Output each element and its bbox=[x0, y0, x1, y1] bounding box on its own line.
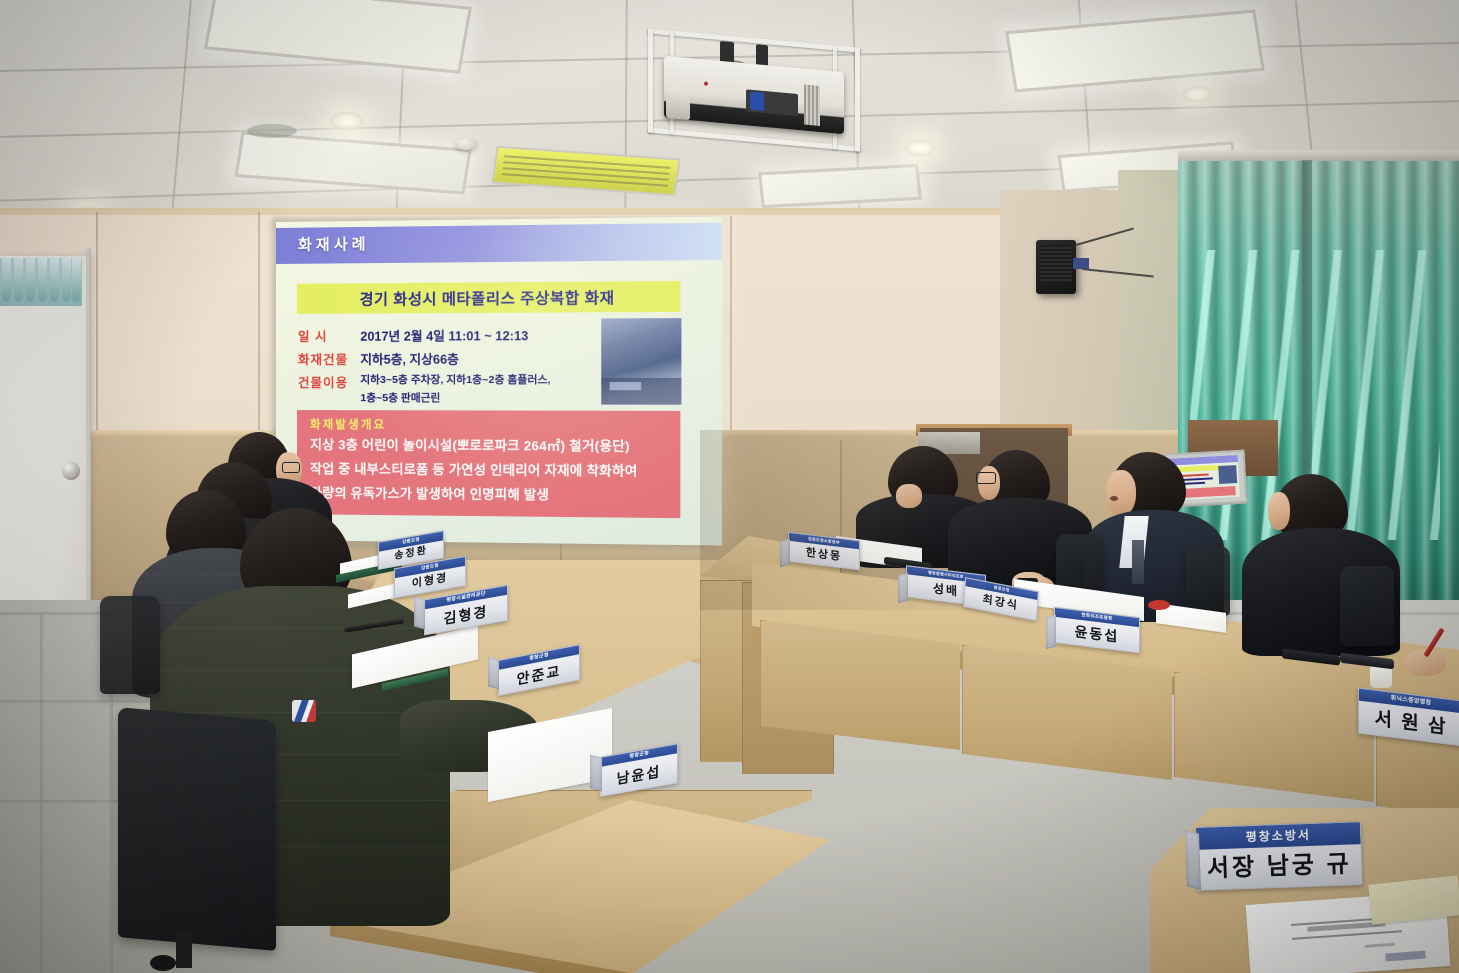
slide-summary-line: 지상 3층 어린이 놀이시설(뽀로로파크 264㎡) 철거(용단) bbox=[310, 434, 630, 455]
nameplate-side bbox=[898, 573, 908, 604]
meeting-room-photo: 화재사례 경기 화성시 메타폴리스 주상복합 화재 일 시 2017년 2월 4… bbox=[0, 0, 1459, 973]
slide-info-row: 1층~5층 판매근린 bbox=[298, 390, 440, 405]
presentation-slide: 화재사례 경기 화성시 메타폴리스 주상복합 화재 일 시 2017년 2월 4… bbox=[276, 216, 722, 545]
wall-seam bbox=[96, 212, 98, 434]
projection-screen: 화재사례 경기 화성시 메타폴리스 주상복합 화재 일 시 2017년 2월 4… bbox=[276, 216, 722, 545]
office-chair[interactable] bbox=[118, 707, 276, 951]
ceiling-downlight bbox=[905, 140, 935, 156]
ceiling-projector bbox=[664, 56, 844, 134]
wall-speaker bbox=[1036, 240, 1076, 294]
nameplate-side bbox=[1185, 830, 1201, 890]
presenter-mouth bbox=[1110, 496, 1118, 501]
slide-info-label: 화재건물 bbox=[298, 349, 360, 368]
smoke-detector bbox=[455, 138, 477, 150]
chair-post bbox=[176, 930, 192, 968]
slide-summary-title: 화재발생개요 bbox=[310, 416, 386, 432]
nameplate-name: 서장 남궁 규 bbox=[1197, 844, 1362, 890]
slide-summary-line: 작업 중 내부스티로폼 등 가연성 인테리어 자재에 착화하여 bbox=[310, 458, 638, 479]
projector-lens bbox=[666, 88, 690, 120]
glasses-icon bbox=[282, 462, 300, 473]
jacket-logo-patch bbox=[292, 700, 316, 722]
curtain-rail bbox=[1178, 150, 1459, 161]
ceiling-downlight bbox=[330, 112, 364, 130]
slide-title-text: 경기 화성시 메타폴리스 주상복합 화재 bbox=[360, 286, 615, 309]
slide-info-value: 1층~5층 판매근린 bbox=[360, 390, 440, 405]
office-chair[interactable] bbox=[1340, 566, 1394, 646]
wall-seam bbox=[730, 216, 732, 438]
slide-info-label: 건물이용 bbox=[298, 372, 360, 391]
door-knob[interactable] bbox=[62, 462, 80, 480]
presenter-face bbox=[1106, 470, 1136, 516]
slide-info-row: 건물이용 지하3~5층 주차장, 지하1층~2층 홈플러스, bbox=[298, 372, 551, 391]
projector-mount-cage bbox=[648, 28, 860, 151]
slide-title-box: 경기 화성시 메타폴리스 주상복합 화재 bbox=[297, 281, 680, 314]
chair-caster bbox=[150, 955, 176, 971]
nameplate-side bbox=[414, 597, 425, 630]
door-window-curtain bbox=[0, 258, 82, 306]
nameplate-side bbox=[1046, 615, 1056, 650]
nameplate-side bbox=[488, 657, 499, 690]
slide-info-row: 화재건물 지하5층, 지상66층 bbox=[298, 349, 459, 368]
nameplate-side bbox=[590, 755, 602, 792]
slide-info-value: 2017년 2월 4일 11:01 ~ 12:13 bbox=[360, 325, 528, 345]
glasses-icon bbox=[976, 472, 996, 484]
nameplate-side bbox=[780, 539, 790, 568]
attendee-face bbox=[1268, 492, 1290, 530]
presenter-tie bbox=[1132, 540, 1144, 584]
slide-info-value: 지하3~5층 주차장, 지하1층~2층 홈플러스, bbox=[360, 372, 550, 387]
attendee-hand bbox=[896, 484, 922, 508]
ceiling-vent bbox=[247, 124, 297, 138]
nameplate: 평창소방서 서장 남궁 규 bbox=[1195, 821, 1363, 891]
ceiling-downlight bbox=[1182, 86, 1212, 102]
wall-seam bbox=[258, 212, 260, 438]
floor-seam bbox=[40, 614, 43, 973]
red-object bbox=[1148, 600, 1170, 610]
speaker-bracket bbox=[1073, 258, 1089, 269]
office-chair[interactable] bbox=[100, 596, 160, 694]
slide-info-row: 일 시 2017년 2월 4일 11:01 ~ 12:13 bbox=[298, 325, 528, 345]
slide-info-label: 일 시 bbox=[298, 326, 360, 345]
office-chair[interactable] bbox=[1186, 546, 1230, 616]
slide-fire-photo bbox=[601, 318, 681, 405]
slide-info-value: 지하5층, 지상66층 bbox=[360, 349, 459, 368]
slide-header-title: 화재사례 bbox=[298, 233, 370, 255]
slide-summary-line: 다량의 유독가스가 발생하여 인명피해 발생 bbox=[310, 482, 549, 503]
